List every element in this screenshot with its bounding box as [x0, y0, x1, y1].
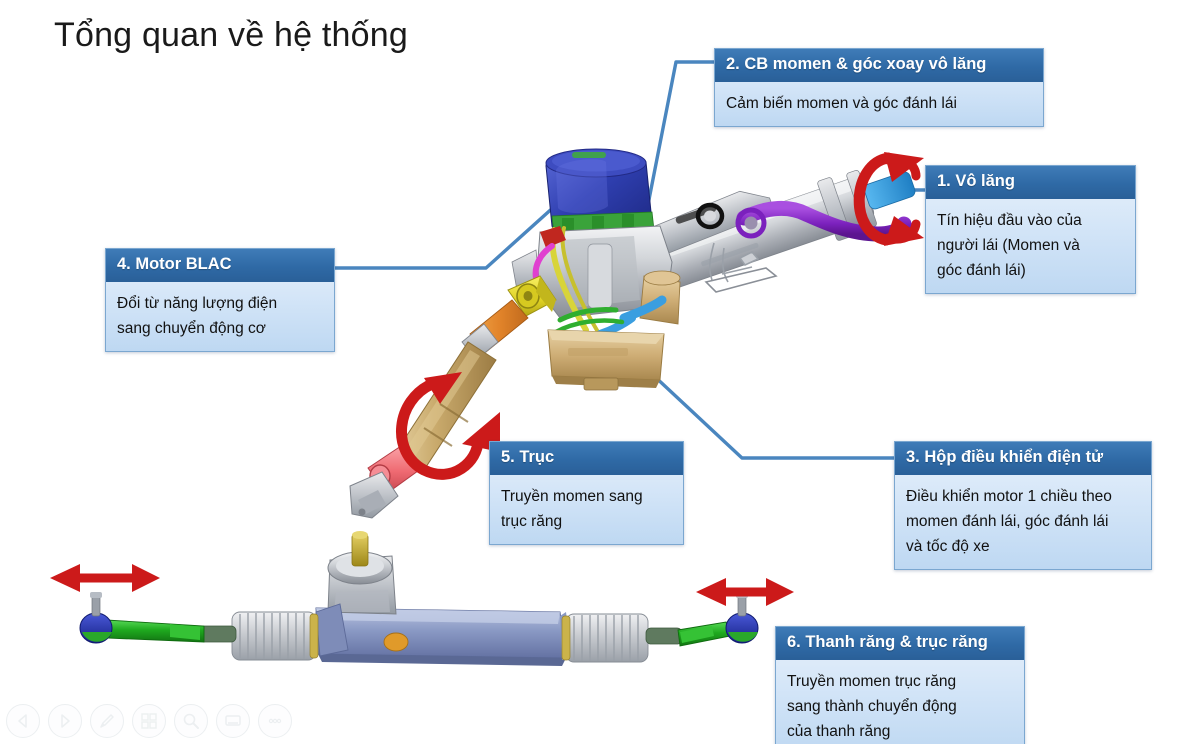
callout-4-line-1: Đổi từ năng lượng điện: [117, 291, 323, 316]
shaft-rotation-arrow: [401, 372, 500, 474]
rack-right-side: [560, 578, 794, 662]
slideshow-toolbar[interactable]: [6, 704, 292, 738]
next-slide-button[interactable]: [48, 704, 82, 738]
bellows-boot-left: [232, 612, 318, 660]
callout-1-body: Tín hiệu đầu vào của người lái (Momen và…: [926, 199, 1135, 293]
callout-2-line-1: Cảm biến momen và góc đánh lái: [726, 91, 1032, 116]
pen-icon: [97, 711, 117, 731]
connector-dot-motor: [559, 189, 574, 204]
column-bracket: [706, 243, 776, 292]
callout-cb-momen[interactable]: 2. CB momen & góc xoay vô lăng Cảm biến …: [714, 48, 1044, 127]
callout-5-line-1: Truyền momen sang: [501, 484, 672, 509]
callout-1-line-1: Tín hiệu đầu vào của: [937, 208, 1124, 233]
callout-2-header: 2. CB momen & góc xoay vô lăng: [715, 49, 1043, 82]
callout-5-line-2: trục răng: [501, 509, 672, 534]
more-options-button[interactable]: [258, 704, 292, 738]
triangle-right-icon: [56, 712, 74, 730]
callout-vo-lang[interactable]: 1. Vô lăng Tín hiệu đầu vào của người lá…: [925, 165, 1136, 294]
callout-6-line-1: Truyền momen trục răng: [787, 669, 1013, 694]
magnifier-icon: [181, 711, 201, 731]
grid-icon: [139, 711, 159, 731]
rack-left-side: [50, 564, 318, 660]
lower-yoke: [350, 472, 398, 518]
universal-joint-upper: [508, 276, 556, 316]
callout-5-header: 5. Trục: [490, 442, 683, 475]
callout-hop-dieu-khien[interactable]: 3. Hộp điều khiển điện tử Điều khiển mot…: [894, 441, 1152, 570]
callout-3-line-2: momen đánh lái, góc đánh lái: [906, 509, 1140, 534]
bellows-boot-right: [562, 614, 648, 662]
callout-6-line-3: của thanh răng: [787, 719, 1013, 744]
steering-column-assembly: [512, 149, 924, 390]
tilt-lever-purple: [738, 208, 904, 236]
screen-icon: [223, 711, 243, 731]
callout-6-header: 6. Thanh răng & trục răng: [776, 627, 1024, 660]
callout-3-body: Điều khiển motor 1 chiều theo momen đánh…: [895, 475, 1151, 569]
callout-3-line-1: Điều khiển motor 1 chiều theo: [906, 484, 1140, 509]
callout-truc[interactable]: 5. Trục Truyền momen sang trục răng: [489, 441, 684, 545]
ball-joint-left: [80, 592, 112, 643]
ellipsis-icon: [265, 711, 285, 731]
callout-4-header: 4. Motor BLAC: [106, 249, 334, 282]
rack-travel-arrow-left: [50, 564, 160, 592]
rack-and-pinion-assembly: [50, 531, 794, 666]
motor-blac: [546, 149, 654, 238]
callout-motor-blac[interactable]: 4. Motor BLAC Đổi từ năng lượng điện san…: [105, 248, 335, 352]
wiring-harness: [536, 226, 662, 334]
pinion-housing: [328, 531, 396, 614]
callout-6-body: Truyền momen trục răng sang thành chuyển…: [776, 660, 1024, 744]
torque-sensor-ring: [698, 205, 722, 227]
slide-grid-button[interactable]: [132, 704, 166, 738]
callout-4-body: Đổi từ năng lượng điện sang chuyển động …: [106, 282, 334, 351]
ball-joint-right: [726, 592, 758, 643]
zoom-button[interactable]: [174, 704, 208, 738]
presenter-view-button[interactable]: [216, 704, 250, 738]
gearbox-housing: [512, 226, 680, 324]
callout-6-line-2: sang thành chuyển động: [787, 694, 1013, 719]
previous-slide-button[interactable]: [6, 704, 40, 738]
callout-3-header: 3. Hộp điều khiển điện tử: [895, 442, 1151, 475]
ecu-box: [548, 330, 664, 390]
page-title: Tổng quan về hệ thống: [54, 14, 408, 57]
triangle-left-icon: [14, 712, 32, 730]
callout-4-line-2: sang chuyển động cơ: [117, 316, 323, 341]
presentation-slide: Tổng quan về hệ thống: [0, 0, 1200, 744]
pen-tool-button[interactable]: [90, 704, 124, 738]
callout-5-body: Truyền momen sang trục răng: [490, 475, 683, 544]
callout-1-line-2: người lái (Momen và: [937, 233, 1124, 258]
rack-travel-arrow-right: [696, 578, 794, 606]
callout-2-body: Cảm biến momen và góc đánh lái: [715, 82, 1043, 126]
universal-joint-lower: [368, 444, 422, 494]
connector-dot-sensor: [621, 261, 636, 276]
steering-rotation-arrow: [859, 152, 924, 246]
callout-1-line-3: góc đánh lái): [937, 258, 1124, 283]
connector-dot-ecu: [645, 367, 660, 382]
callout-3-line-3: và tốc độ xe: [906, 534, 1140, 559]
callout-thanh-rang[interactable]: 6. Thanh răng & trục răng Truyền momen t…: [775, 626, 1025, 744]
callout-1-header: 1. Vô lăng: [926, 166, 1135, 199]
